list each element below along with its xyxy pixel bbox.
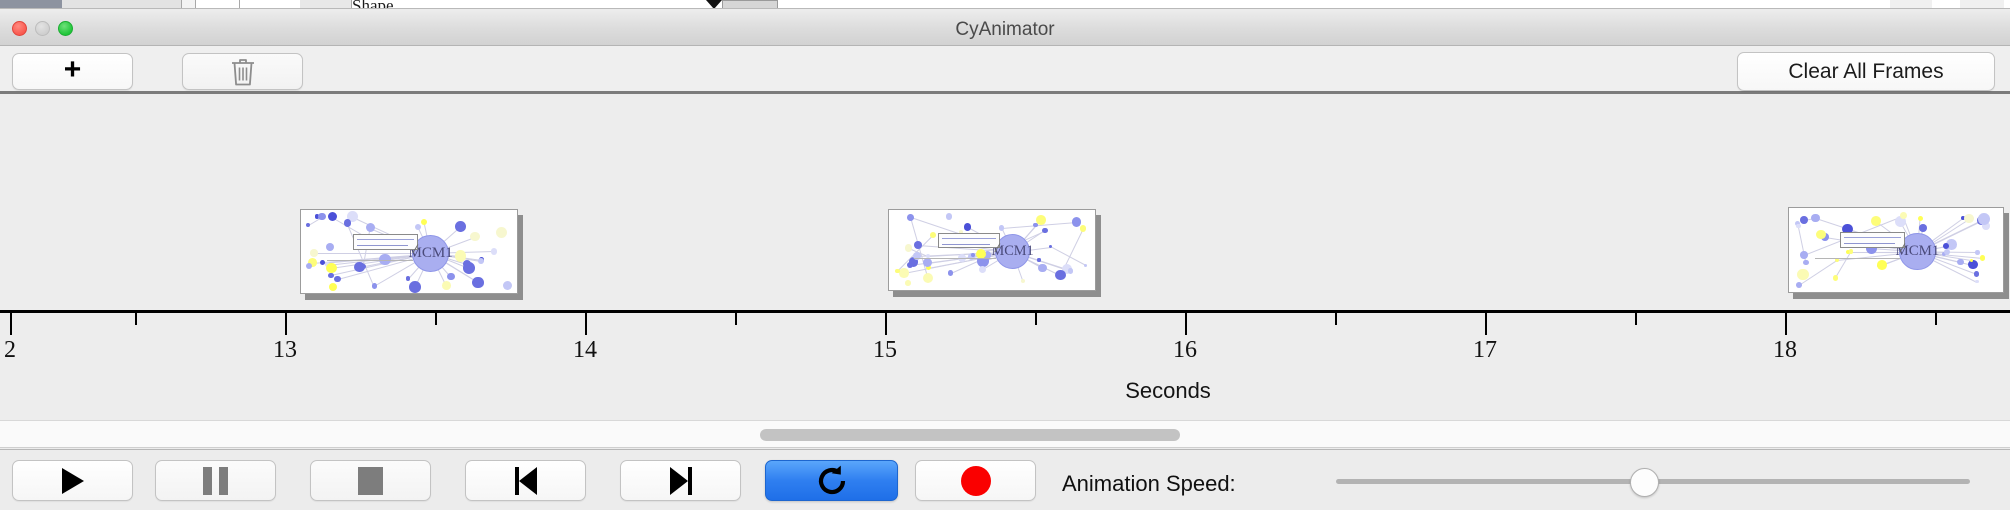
network-node xyxy=(503,281,512,290)
background-window-caret-icon xyxy=(706,0,722,9)
pause-button[interactable] xyxy=(155,460,276,501)
network-node xyxy=(1036,215,1046,225)
record-button[interactable] xyxy=(915,460,1036,501)
network-node xyxy=(334,276,340,282)
network-node xyxy=(1833,275,1839,281)
network-node xyxy=(1975,250,1980,255)
network-node xyxy=(1975,280,1978,283)
clear-all-frames-button[interactable]: Clear All Frames xyxy=(1737,52,1995,91)
network-node xyxy=(472,277,484,289)
trash-icon xyxy=(230,57,256,87)
tick-minor xyxy=(735,313,737,325)
tick-major xyxy=(1485,313,1487,335)
tick-label: 18 xyxy=(1773,337,1797,364)
plus-icon: + xyxy=(64,55,82,85)
network-edge xyxy=(1835,252,1851,279)
network-node xyxy=(923,273,933,283)
network-hub-node: MCM1 xyxy=(412,235,449,272)
network-node xyxy=(406,276,411,281)
toolbar: + Clear All Frames xyxy=(0,46,2010,94)
network-annotation-text xyxy=(327,260,413,261)
keyframe-thumbnail[interactable]: MCM1 xyxy=(888,209,1096,291)
network-node xyxy=(306,263,312,269)
network-node xyxy=(354,262,364,272)
tick-label: 17 xyxy=(1473,337,1497,364)
network-node xyxy=(907,214,914,221)
pause-icon xyxy=(203,467,228,495)
timeline-ruler[interactable]: 2131415161718 Seconds xyxy=(0,310,2010,420)
tick-major xyxy=(585,313,587,335)
network-node xyxy=(948,270,954,276)
network-node xyxy=(914,241,922,249)
tick-major xyxy=(1785,313,1787,335)
network-node xyxy=(1943,243,1949,249)
background-window-tab xyxy=(62,0,182,9)
network-callout-text xyxy=(942,244,990,245)
network-hub-node: MCM1 xyxy=(995,234,1030,269)
tick-minor xyxy=(1035,313,1037,325)
loop-button[interactable] xyxy=(765,460,898,501)
keyframe-thumbnail[interactable]: MCM1 xyxy=(1788,207,2004,293)
network-node xyxy=(1038,264,1047,273)
network-node xyxy=(905,244,912,251)
delete-frame-button[interactable] xyxy=(182,53,303,90)
axis-title: Seconds xyxy=(0,378,2010,404)
network-callout-text xyxy=(357,245,408,246)
cyanimator-window: Shape CyAnimator + Clear All Frames xyxy=(0,0,2010,510)
network-node xyxy=(979,266,986,273)
skip-back-icon xyxy=(515,467,537,495)
network-node xyxy=(1816,230,1826,240)
network-node xyxy=(1800,251,1807,258)
network-node xyxy=(1918,216,1923,221)
network-node xyxy=(1871,216,1881,226)
network-callout-text xyxy=(357,239,414,240)
network-node xyxy=(1900,212,1907,219)
clear-all-frames-label: Clear All Frames xyxy=(1788,60,1943,84)
background-window-button xyxy=(1960,0,2004,9)
network-node xyxy=(1800,216,1808,224)
loop-icon xyxy=(815,464,849,498)
background-window-button xyxy=(722,0,778,9)
network-node xyxy=(923,258,932,267)
background-window-shape-label: Shape xyxy=(352,0,394,9)
record-icon xyxy=(961,466,991,496)
tick-major xyxy=(285,313,287,335)
network-node xyxy=(1919,224,1927,232)
network-node xyxy=(455,221,466,232)
network-node xyxy=(999,225,1005,231)
network-node xyxy=(1957,259,1964,266)
network-callout xyxy=(938,233,1000,248)
network-node xyxy=(463,262,475,274)
network-node xyxy=(366,223,375,232)
network-node xyxy=(1084,264,1087,267)
network-node xyxy=(415,224,421,230)
network-hub-node: MCM1 xyxy=(1899,233,1935,269)
network-node xyxy=(372,283,377,288)
background-window-dark-tab xyxy=(0,0,62,9)
network-node xyxy=(470,232,480,242)
title-bar: CyAnimator xyxy=(0,9,2010,46)
network-node xyxy=(329,283,337,291)
add-frame-button[interactable]: + xyxy=(12,53,133,90)
window-title: CyAnimator xyxy=(0,19,2010,41)
tick-label: 14 xyxy=(573,337,597,364)
network-node xyxy=(1803,260,1808,265)
network-node xyxy=(930,232,936,238)
animation-speed-label: Animation Speed: xyxy=(1062,471,1236,497)
scrollbar-thumb[interactable] xyxy=(760,429,1180,441)
network-node xyxy=(913,252,921,260)
network-node xyxy=(1877,260,1887,270)
network-node xyxy=(1964,214,1974,224)
tick-major xyxy=(10,313,12,335)
network-node xyxy=(328,212,337,221)
previous-frame-button[interactable] xyxy=(465,460,586,501)
network-node xyxy=(328,273,334,279)
background-window-tab xyxy=(182,0,196,9)
network-node xyxy=(1811,214,1819,222)
network-node xyxy=(326,243,334,251)
skip-forward-icon xyxy=(670,467,692,495)
network-node xyxy=(971,253,975,257)
network-annotation-text xyxy=(914,258,996,259)
tick-label: 16 xyxy=(1173,337,1197,364)
network-callout-text xyxy=(942,238,996,239)
network-node xyxy=(491,248,498,255)
network-node xyxy=(1980,255,1985,260)
network-preview: MCM1 xyxy=(300,209,518,294)
network-callout-text xyxy=(1844,237,1900,238)
timeline-scrollbar[interactable] xyxy=(0,420,2010,448)
tick-minor xyxy=(135,313,137,325)
network-node xyxy=(318,213,325,220)
background-window-tab xyxy=(232,0,240,9)
network-node xyxy=(455,250,467,262)
network-node xyxy=(964,223,971,230)
network-callout xyxy=(353,234,418,250)
network-preview: MCM1 xyxy=(1788,207,2004,293)
network-node xyxy=(1072,217,1081,226)
tick-minor xyxy=(1635,313,1637,325)
background-window-button xyxy=(1890,0,1932,9)
tick-label: 2 xyxy=(4,337,16,364)
tick-label: 15 xyxy=(873,337,897,364)
network-node xyxy=(1849,249,1853,253)
timeline-panel[interactable]: MCM1 MCM1 MCM1 xyxy=(0,97,2010,310)
network-annotation-text xyxy=(1815,258,1901,259)
network-node xyxy=(306,223,311,228)
network-node xyxy=(1068,268,1073,273)
network-node xyxy=(1037,258,1040,261)
tick-major xyxy=(1185,313,1187,335)
play-icon xyxy=(62,468,84,494)
network-callout-text xyxy=(1844,243,1894,244)
stop-button[interactable] xyxy=(310,460,431,501)
background-window-tab xyxy=(300,0,352,9)
network-preview: MCM1 xyxy=(888,209,1096,291)
network-node xyxy=(946,213,953,220)
animation-speed-slider-thumb[interactable] xyxy=(1630,468,1659,497)
network-node xyxy=(899,268,908,277)
background-window-strip: Shape xyxy=(0,0,2010,9)
play-button[interactable] xyxy=(12,460,133,501)
network-node xyxy=(895,269,899,273)
network-node xyxy=(344,219,351,226)
network-node xyxy=(1974,271,1979,276)
network-node xyxy=(310,249,318,257)
network-node xyxy=(1797,269,1809,281)
network-node xyxy=(1796,224,1800,228)
keyframe-thumbnail[interactable]: MCM1 xyxy=(300,209,518,294)
network-node xyxy=(1055,270,1066,281)
stop-icon xyxy=(358,467,383,495)
network-node xyxy=(442,281,451,290)
tick-label: 13 xyxy=(273,337,297,364)
network-node xyxy=(1970,259,1973,262)
network-node xyxy=(1021,279,1026,284)
network-callout xyxy=(1840,232,1904,248)
tick-minor xyxy=(1935,313,1937,325)
tick-minor xyxy=(435,313,437,325)
network-node xyxy=(320,260,325,265)
network-node xyxy=(496,227,508,239)
next-frame-button[interactable] xyxy=(620,460,741,501)
network-node xyxy=(1796,282,1802,288)
network-node xyxy=(326,263,337,274)
network-node xyxy=(905,280,911,286)
playback-control-bar: Animation Speed: xyxy=(0,449,2010,510)
network-node xyxy=(409,281,421,293)
axis-line xyxy=(0,310,2010,313)
network-node xyxy=(478,258,484,264)
network-node xyxy=(1080,225,1087,232)
tick-major xyxy=(885,313,887,335)
network-node xyxy=(421,219,427,225)
network-node xyxy=(1042,228,1048,234)
network-node xyxy=(447,273,454,280)
tick-minor xyxy=(1335,313,1337,325)
